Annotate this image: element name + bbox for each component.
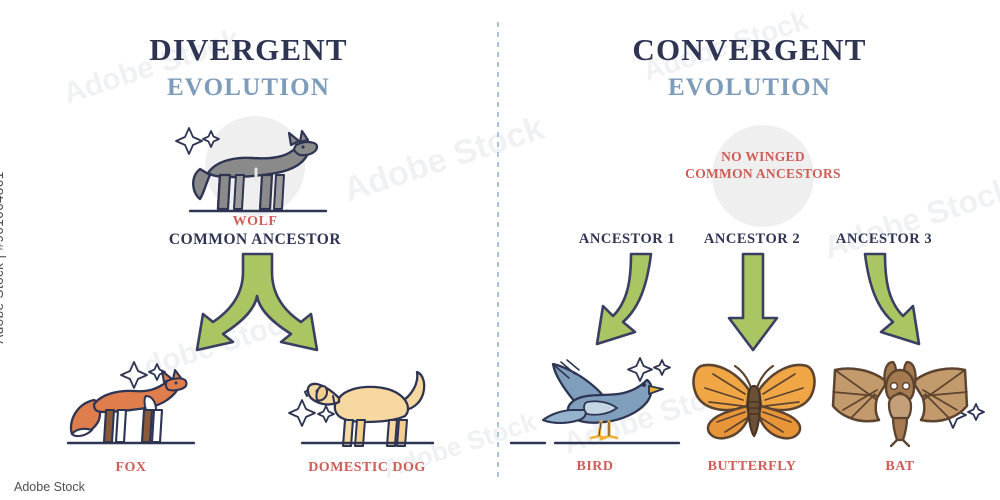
convergent-title-main: CONVERGENT: [499, 32, 1000, 68]
bat-icon: [829, 360, 971, 448]
butterfly-icon: [691, 358, 816, 444]
divergent-title-sub: EVOLUTION: [0, 74, 497, 102]
butterfly-label: BUTTERFLY: [708, 459, 797, 475]
arrow-down-left-icon: [587, 252, 659, 356]
convergent-title-sub: EVOLUTION: [499, 74, 1000, 102]
note-line-2: COMMON ANCESTORS: [685, 165, 841, 182]
ancestor-2-label: ANCESTOR 2: [704, 231, 800, 248]
bird-label: BIRD: [576, 459, 613, 475]
divergent-title: DIVERGENT EVOLUTION: [0, 32, 497, 102]
no-winged-ancestors-note: NO WINGED COMMON ANCESTORS: [685, 148, 841, 182]
bat-label: BAT: [885, 459, 914, 475]
watermark-bottom: Adobe Stock: [14, 480, 85, 494]
ancestor-3-label: ANCESTOR 3: [836, 231, 932, 248]
forked-arrow-icon: [165, 252, 350, 357]
arrow-down-right-icon: [857, 252, 929, 356]
fox-label: FOX: [115, 460, 146, 476]
diagram-canvas: Adobe Stock Adobe Stock Adobe Stock Adob…: [0, 0, 1000, 500]
note-line-1: NO WINGED: [685, 148, 841, 165]
dog-ground-line: [300, 440, 435, 446]
wolf-name-label: WOLF: [233, 214, 278, 230]
dog-label: DOMESTIC DOG: [308, 460, 426, 476]
watermark-vertical: Adobe Stock | #901664861: [0, 171, 6, 343]
panel-divergent: DIVERGENT EVOLUTION: [0, 0, 497, 500]
fox-ground-line: [66, 440, 196, 446]
ancestor-1-label: ANCESTOR 1: [579, 231, 675, 248]
wolf-icon: [190, 125, 320, 220]
wolf-role-label: COMMON ANCESTOR: [169, 231, 341, 249]
divergent-title-main: DIVERGENT: [0, 32, 497, 68]
panel-convergent: CONVERGENT EVOLUTION NO WINGED COMMON AN…: [499, 0, 1000, 500]
convergent-title: CONVERGENT EVOLUTION: [499, 32, 1000, 102]
bird-icon: [539, 352, 669, 444]
arrow-down-icon: [727, 252, 779, 356]
bird-ground-line: [509, 440, 681, 446]
